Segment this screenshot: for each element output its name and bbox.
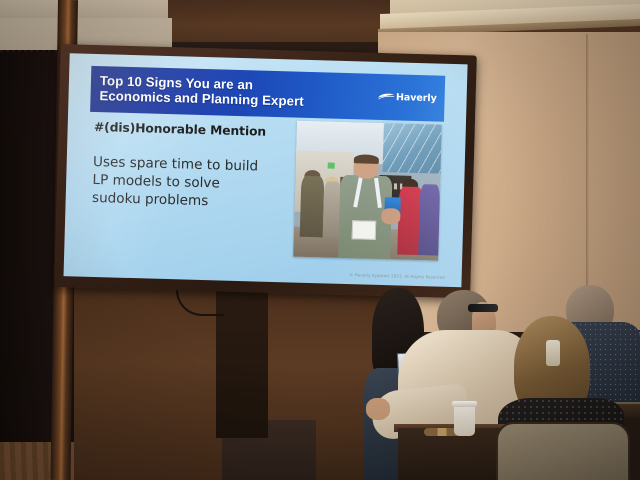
photo-window — [383, 123, 442, 174]
haverly-logo: Haverly — [378, 92, 437, 105]
slide-photo — [293, 121, 442, 261]
slide-body-text: Uses spare time to build LP models to so… — [92, 154, 292, 213]
coffee-cup-lid — [452, 401, 477, 407]
flat-screen-tv: Top 10 Signs You are an Economics and Pl… — [54, 44, 477, 299]
slide-copyright: © Haverly Systems 2023. All Rights Reser… — [349, 272, 445, 280]
conference-room-photo: Top 10 Signs You are an Economics and Pl… — [0, 0, 640, 480]
photo-bg-person-4-body — [418, 184, 440, 255]
haverly-logo-text: Haverly — [396, 92, 437, 104]
conference-chair — [496, 422, 630, 480]
swoosh-icon — [378, 92, 395, 103]
slide-title: Top 10 Signs You are an Economics and Pl… — [90, 74, 304, 110]
slide-subheading: #(dis)Honorable Mention — [94, 120, 266, 139]
photo-subject-hand — [381, 208, 400, 225]
coffee-cup — [454, 404, 475, 436]
eyeglasses-worn-icon — [468, 304, 498, 312]
slide-title-bar: Top 10 Signs You are an Economics and Pl… — [90, 66, 445, 122]
wall-corner-edge — [586, 34, 589, 324]
photo-bg-person-1-body — [299, 175, 324, 237]
photo-subject-name-badge — [352, 220, 376, 239]
photo-exit-sign — [327, 163, 334, 169]
hair-clip — [546, 340, 560, 366]
tv-screen: Top 10 Signs You are an Economics and Pl… — [64, 53, 468, 287]
photo-window-mullions — [383, 123, 442, 174]
slide-title-line-2: Economics and Planning Expert — [99, 89, 304, 110]
ceiling-left — [0, 0, 172, 20]
presentation-slide: Top 10 Signs You are an Economics and Pl… — [64, 53, 468, 287]
person-glasses-light-shirt-hand — [366, 398, 390, 420]
photo-subject-hair — [354, 154, 379, 164]
